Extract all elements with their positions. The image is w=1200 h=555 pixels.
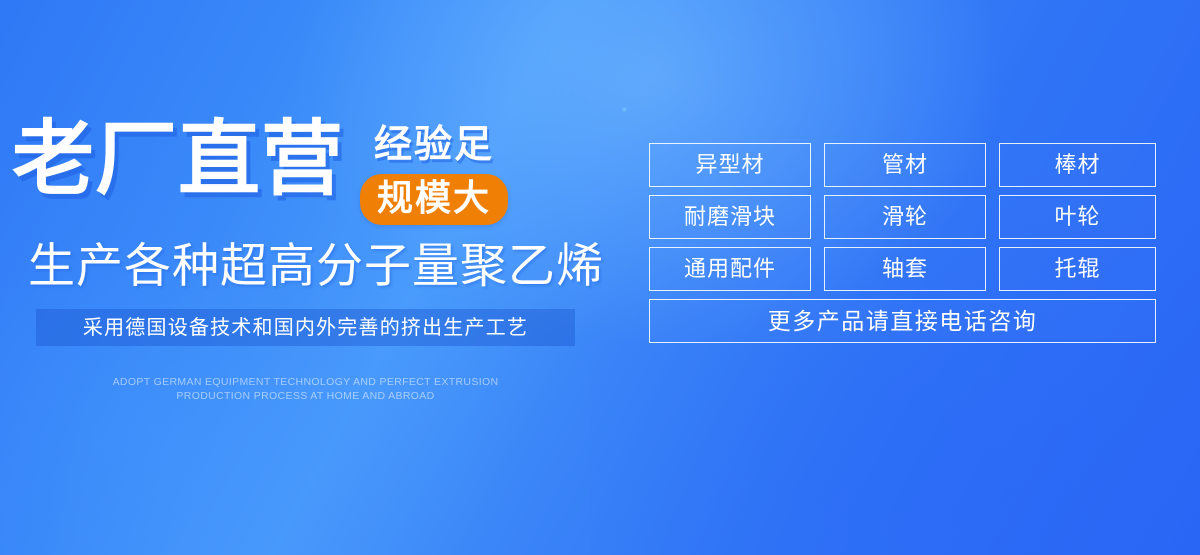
more-products-cta-label: 更多产品请直接电话咨询 (768, 308, 1038, 334)
product-button-general-fittings[interactable]: 通用配件 (649, 247, 811, 291)
product-button-bushing[interactable]: 轴套 (824, 247, 986, 291)
product-button-label: 叶轮 (1054, 204, 1100, 230)
badge-experience: 经验足 (374, 124, 494, 166)
hero-text-block: 老厂直营 经验足 规模大 生产各种超高分子量聚乙烯 采用德国设备技术和国内外完善… (0, 0, 610, 555)
product-button-impeller[interactable]: 叶轮 (999, 195, 1156, 239)
product-row-3: 通用配件 轴套 托辊 (649, 247, 1156, 291)
more-products-cta-button[interactable]: 更多产品请直接电话咨询 (649, 299, 1156, 343)
product-row-1: 异型材 管材 棒材 (649, 143, 1156, 187)
product-row-2: 耐磨滑块 滑轮 叶轮 (649, 195, 1156, 239)
product-button-label: 通用配件 (684, 256, 776, 282)
page-title: 老厂直营 (12, 112, 344, 208)
product-button-label: 棒材 (1054, 152, 1100, 178)
product-category-grid: 异型材 管材 棒材 耐磨滑块 滑轮 叶轮 通用配件 (649, 143, 1156, 343)
product-button-label: 轴套 (882, 256, 928, 282)
product-button-label: 耐磨滑块 (684, 204, 776, 230)
product-button-label: 管材 (882, 152, 928, 178)
subtitle: 生产各种超高分子量聚乙烯 (28, 238, 604, 294)
product-button-label: 滑轮 (882, 204, 928, 230)
product-button-label: 异型材 (695, 152, 764, 178)
product-button-profiles[interactable]: 异型材 (649, 143, 811, 187)
english-caption-line-1: ADOPT GERMAN EQUIPMENT TECHNOLOGY AND PE… (36, 375, 575, 389)
headline-row: 老厂直营 经验足 规模大 (12, 112, 508, 225)
background-speck (623, 108, 626, 111)
product-button-pulley[interactable]: 滑轮 (824, 195, 986, 239)
english-caption: ADOPT GERMAN EQUIPMENT TECHNOLOGY AND PE… (36, 375, 575, 403)
product-button-rods[interactable]: 棒材 (999, 143, 1156, 187)
product-button-pipes[interactable]: 管材 (824, 143, 986, 187)
tagline-bar: 采用德国设备技术和国内外完善的挤出生产工艺 (36, 309, 575, 346)
product-button-idler-roller[interactable]: 托辊 (999, 247, 1156, 291)
promo-banner: 老厂直营 经验足 规模大 生产各种超高分子量聚乙烯 采用德国设备技术和国内外完善… (0, 0, 1200, 555)
badge-group: 经验足 规模大 (360, 124, 508, 225)
badge-scale: 规模大 (360, 174, 508, 225)
product-button-wear-resistant-slider[interactable]: 耐磨滑块 (649, 195, 811, 239)
product-row-4: 更多产品请直接电话咨询 (649, 299, 1156, 343)
english-caption-line-2: PRODUCTION PROCESS AT HOME AND ABROAD (36, 389, 575, 403)
product-button-label: 托辊 (1054, 256, 1100, 282)
tagline-text: 采用德国设备技术和国内外完善的挤出生产工艺 (83, 316, 528, 340)
